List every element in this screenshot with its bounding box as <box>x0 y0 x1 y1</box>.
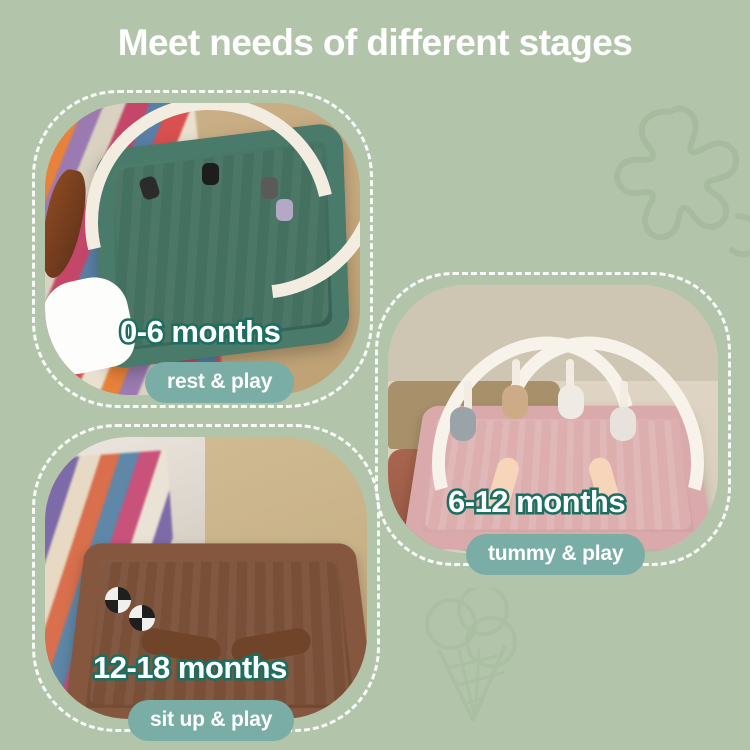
play-mat-brown <box>63 543 367 719</box>
page-title: Meet needs of different stages <box>0 24 750 63</box>
ice-cream-cone-doodle-icon <box>413 588 533 728</box>
hanging-toy <box>450 407 476 441</box>
hanging-toy <box>261 177 278 199</box>
flower-doodle-icon <box>578 96 750 286</box>
hanging-toy <box>502 385 528 419</box>
hanging-toy <box>276 199 293 221</box>
rattle-toy <box>129 605 155 631</box>
hanging-toy <box>202 163 219 185</box>
card-photo-0-6-months <box>45 103 360 395</box>
stage-label-0-6-months: 0-6 months <box>120 314 280 350</box>
stage-badge-sit-up-and-play[interactable]: sit up & play <box>128 700 294 741</box>
stage-label-12-18-months: 12-18 months <box>93 650 287 686</box>
promo-banner: Meet needs of different stages <box>0 0 750 750</box>
stage-card-0-6-months[interactable] <box>45 103 360 395</box>
rattle-toy <box>105 587 131 613</box>
stage-label-6-12-months: 6-12 months <box>448 484 625 520</box>
hanging-toy <box>610 407 636 441</box>
hanging-toy <box>558 385 584 419</box>
stage-badge-rest-and-play[interactable]: rest & play <box>145 362 294 403</box>
stage-badge-tummy-and-play[interactable]: tummy & play <box>466 534 645 575</box>
